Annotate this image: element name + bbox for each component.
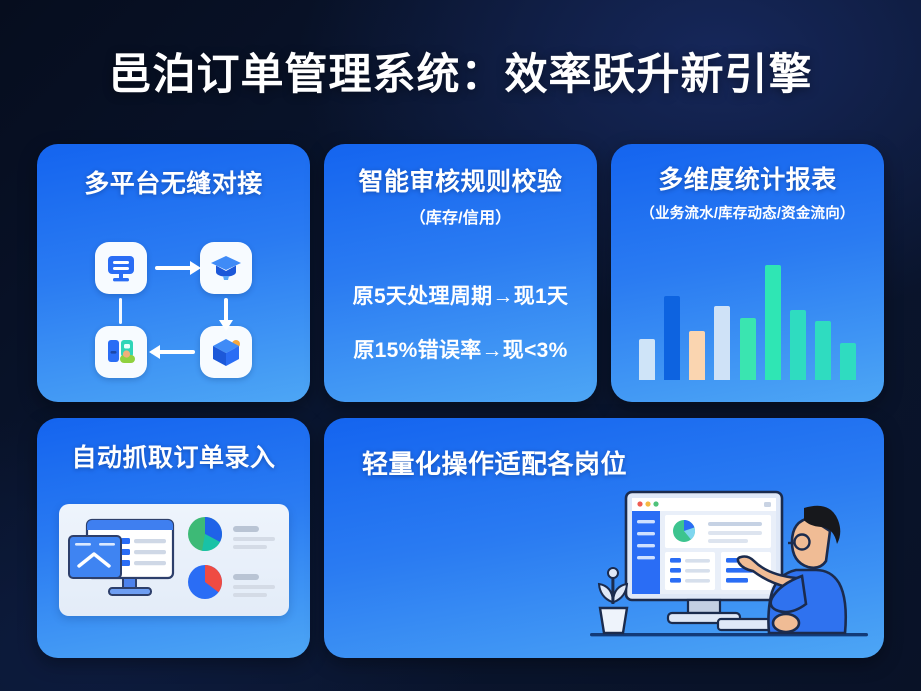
card-title-auto-capture: 自动抓取订单录入 <box>37 444 310 473</box>
flow-arrow-down <box>224 298 228 322</box>
card-title-multi-platform: 多平台无缝对接 <box>37 170 310 199</box>
cube-icon[interactable] <box>200 326 252 378</box>
integration-flow-diagram <box>37 236 310 396</box>
slide-canvas: 邑泊订单管理系统：效率跃升新引擎 多平台无缝对接 <box>0 0 921 691</box>
card-lightweight-ops[interactable]: 轻量化操作适配各岗位 <box>324 418 884 658</box>
bar-3 <box>689 331 705 380</box>
page-title: 邑泊订单管理系统：效率跃升新引擎 <box>0 40 921 102</box>
bar-chart <box>639 258 856 380</box>
bar-6 <box>765 265 781 380</box>
display-icon[interactable] <box>95 242 147 294</box>
store-icon[interactable] <box>95 326 147 378</box>
bar-5 <box>740 318 756 380</box>
card-title-multi-dim-report: 多维度统计报表 <box>611 166 884 195</box>
bar-9 <box>840 343 856 380</box>
package-icon[interactable] <box>200 242 252 294</box>
card-smart-audit[interactable]: 智能审核规则校验 （库存/信用） 原5天处理周期→现1天 原15%错误率→现<3… <box>324 144 597 402</box>
card-multi-dim-report[interactable]: 多维度统计报表 （业务流水/库存动态/资金流向） <box>611 144 884 402</box>
bar-7 <box>790 310 806 380</box>
card-subtitle-multi-dim-report: （业务流水/库存动态/资金流向） <box>611 202 884 223</box>
bar-4 <box>714 306 730 380</box>
card-title-smart-audit: 智能审核规则校验 <box>324 168 597 197</box>
dashboard-illustration <box>59 504 289 616</box>
flow-connector-up <box>119 298 122 324</box>
flow-arrow-left <box>151 350 195 354</box>
card-subtitle-smart-audit: （库存/信用） <box>324 204 597 228</box>
stat-processing-cycle: 原5天处理周期→现1天 <box>324 280 597 310</box>
bar-1 <box>639 339 655 380</box>
stat-error-rate: 原15%错误率→现<3% <box>324 334 597 364</box>
bar-2 <box>664 296 680 380</box>
card-auto-capture[interactable]: 自动抓取订单录入 <box>37 418 310 658</box>
bar-8 <box>815 321 831 380</box>
flow-arrow-right <box>155 266 199 270</box>
person-at-desk-illustration <box>590 478 880 658</box>
card-title-lightweight-ops: 轻量化操作适配各岗位 <box>362 450 782 480</box>
card-multi-platform[interactable]: 多平台无缝对接 <box>37 144 310 402</box>
